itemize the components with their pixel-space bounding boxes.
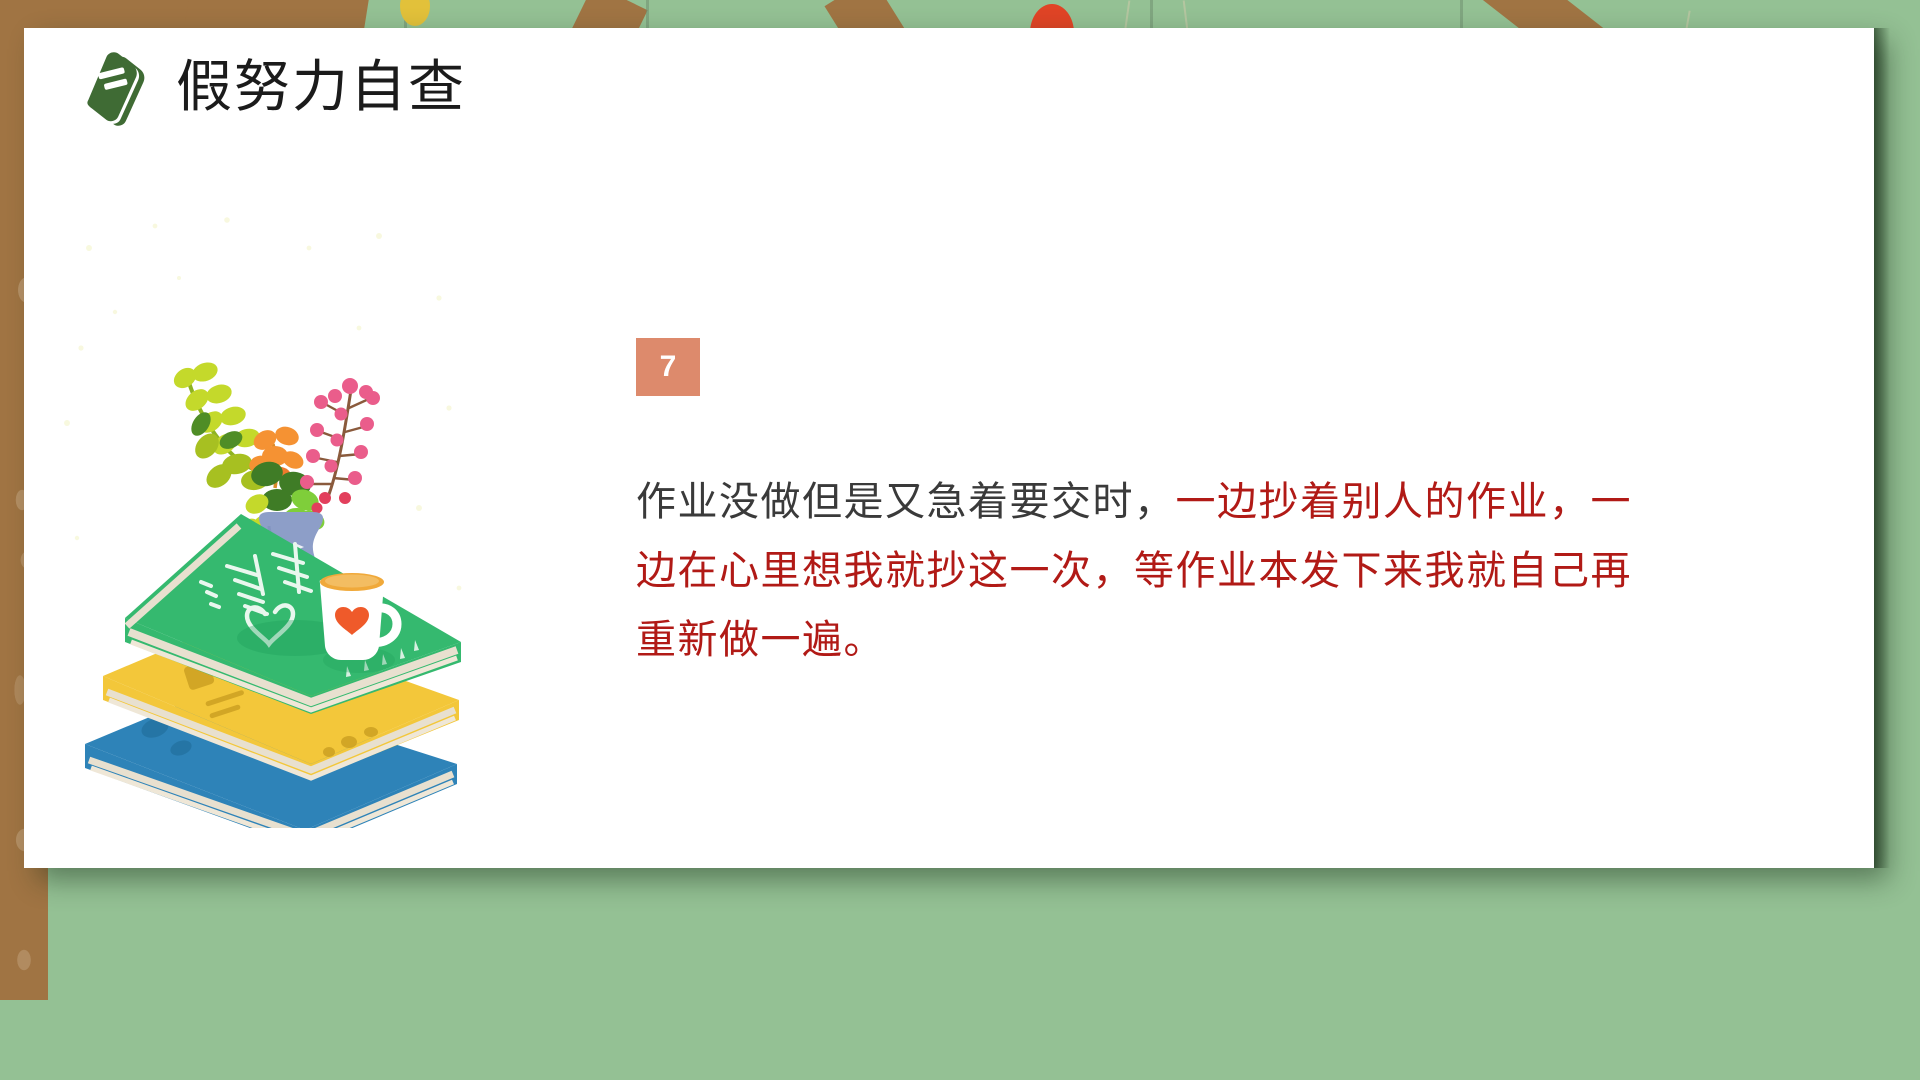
page-title: 假努力自查 xyxy=(176,58,466,117)
card-edge-shadow xyxy=(1874,28,1890,868)
books-vase-coffee-illustration xyxy=(59,208,479,828)
left-green-wedge xyxy=(0,1000,120,1080)
status-badge: 7 xyxy=(636,338,700,396)
body-text-normal: 作业没做但是又急着要交时， xyxy=(636,480,1176,524)
slide-root: 假努力自查 xyxy=(0,0,1920,1080)
slide-card: 假努力自查 xyxy=(24,28,1874,868)
content-block: 7 作业没做但是又急着要交时，一边抄着别人的作业，一边在心里想我就抄这一次，等作… xyxy=(636,338,1816,674)
body-text: 作业没做但是又急着要交时，一边抄着别人的作业，一边在心里想我就抄这一次，等作业本… xyxy=(636,468,1636,674)
header: 假努力自查 xyxy=(76,48,466,126)
green-book-icon xyxy=(76,48,154,126)
